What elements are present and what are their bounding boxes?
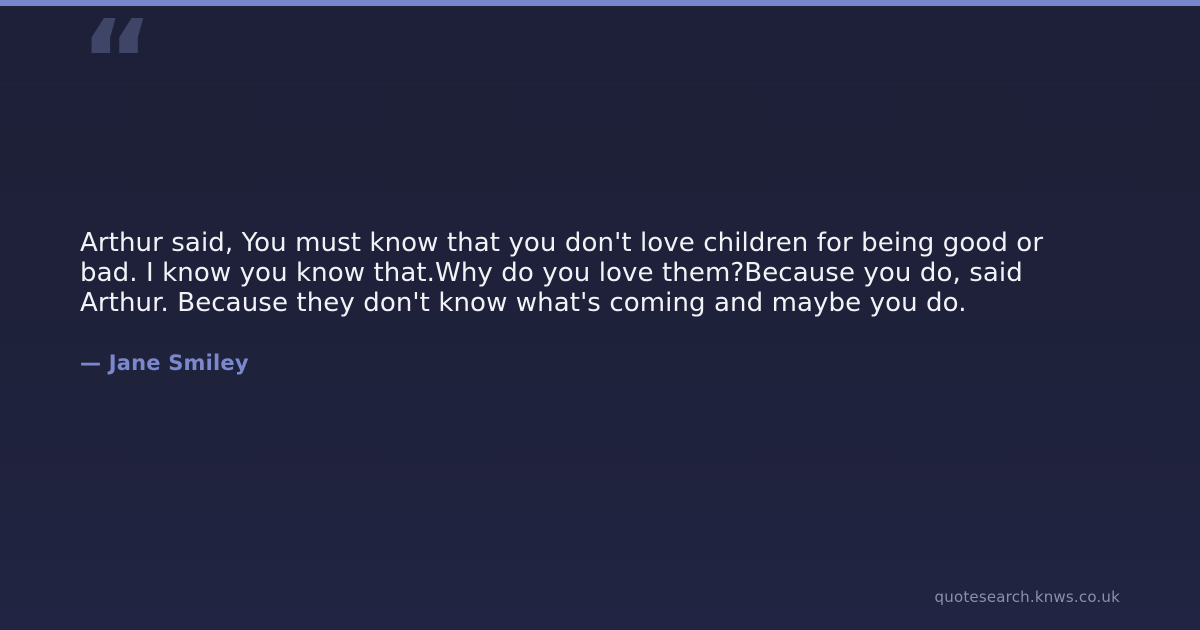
quote-text: Arthur said, You must know that you don'…	[80, 228, 1080, 318]
quote-attribution: — Jane Smiley	[80, 318, 1080, 375]
quote-content: Arthur said, You must know that you don'…	[80, 228, 1080, 375]
site-url-label: quotesearch.knws.co.uk	[935, 588, 1120, 606]
top-accent-bar	[0, 0, 1200, 6]
open-quote-icon: “	[80, 6, 152, 118]
background-band	[0, 84, 1200, 85]
quote-card: “ Arthur said, You must know that you do…	[0, 0, 1200, 630]
